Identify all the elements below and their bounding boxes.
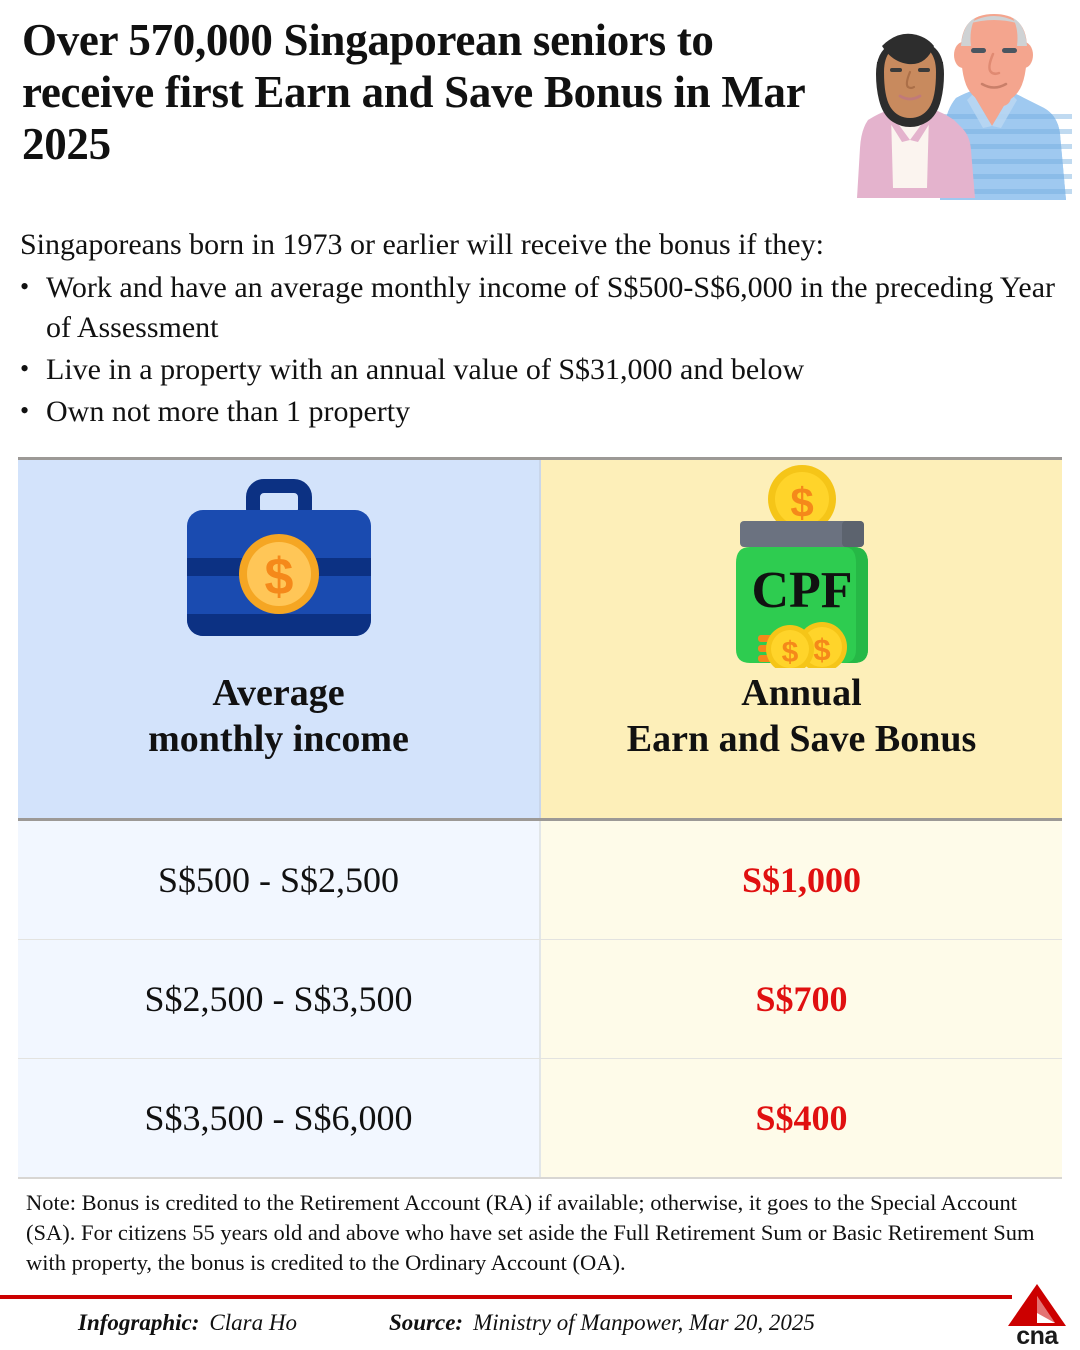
cell-income: S$500 - S$2,500	[18, 821, 541, 939]
cell-income: S$2,500 - S$3,500	[18, 940, 541, 1058]
source-label: Source:	[389, 1310, 463, 1336]
svg-text:$: $	[781, 636, 798, 668]
briefcase-money-svg: $	[179, 478, 379, 653]
header-line-2: Earn and Save Bonus	[627, 716, 977, 762]
bullet-marker-icon: •	[20, 268, 46, 306]
headline-container: Over 570,000 Singaporean seniors to rece…	[22, 14, 812, 171]
source-value: Ministry of Manpower, Mar 20, 2025	[473, 1310, 815, 1336]
table-header-label-bonus: Annual Earn and Save Bonus	[627, 670, 977, 763]
table-row: S$2,500 - S$3,500 S$700	[18, 940, 1062, 1059]
table-row: S$500 - S$2,500 S$1,000	[18, 821, 1062, 940]
jar-label: CPF	[751, 562, 852, 619]
page-title: Over 570,000 Singaporean seniors to rece…	[22, 14, 812, 171]
footnote-text: Note: Bonus is credited to the Retiremen…	[26, 1188, 1046, 1278]
svg-text:$: $	[790, 479, 813, 526]
bullet-marker-icon: •	[20, 392, 46, 430]
table-header-cell-income: $ Average monthly income	[18, 460, 541, 818]
cna-triangle-icon	[1006, 1283, 1068, 1327]
header-line-1: Annual	[627, 670, 977, 716]
cpf-savings-jar-icon: $ CPF $	[702, 460, 902, 670]
header-line-1: Average	[148, 670, 409, 716]
infographic-author: Clara Ho	[209, 1310, 297, 1336]
cell-income: S$3,500 - S$6,000	[18, 1059, 541, 1177]
list-item: • Work and have an average monthly incom…	[20, 268, 1060, 348]
cna-logo: cna	[1006, 1283, 1068, 1347]
senior-couple-illustration	[828, 2, 1072, 200]
header-line-2: monthly income	[148, 716, 409, 762]
table-header-row: $ Average monthly income $	[18, 460, 1062, 818]
cell-bonus: S$1,000	[541, 821, 1062, 939]
cell-bonus: S$400	[541, 1059, 1062, 1177]
table-body: S$500 - S$2,500 S$1,000 S$2,500 - S$3,50…	[18, 821, 1062, 1177]
table-header-cell-bonus: $ CPF $	[541, 460, 1062, 818]
cna-wordmark: cna	[1006, 1324, 1068, 1349]
cpf-jar-svg: $ CPF $	[702, 463, 902, 668]
intro-text: Singaporeans born in 1973 or earlier wil…	[20, 226, 1050, 264]
cell-bonus: S$700	[541, 940, 1062, 1058]
list-item: • Live in a property with an annual valu…	[20, 350, 1060, 390]
table-header-label-income: Average monthly income	[148, 670, 409, 763]
eligibility-bullet-list: • Work and have an average monthly incom…	[20, 268, 1060, 434]
senior-couple-svg	[828, 2, 1072, 200]
footer-divider	[0, 1295, 1012, 1299]
bonus-table: $ Average monthly income $	[18, 457, 1062, 1179]
infographic-page: Over 570,000 Singaporean seniors to rece…	[0, 0, 1080, 1350]
infographic-label: Infographic:	[78, 1310, 199, 1336]
svg-text:$: $	[813, 632, 830, 667]
list-item-label: Work and have an average monthly income …	[46, 268, 1060, 348]
briefcase-money-icon: $	[179, 460, 379, 670]
list-item-label: Own not more than 1 property	[46, 392, 1060, 432]
svg-text:$: $	[264, 548, 293, 606]
table-row: S$3,500 - S$6,000 S$400	[18, 1059, 1062, 1177]
bullet-marker-icon: •	[20, 350, 46, 388]
list-item-label: Live in a property with an annual value …	[46, 350, 1060, 390]
footer-credits: Infographic: Clara Ho Source: Ministry o…	[78, 1310, 815, 1336]
list-item: • Own not more than 1 property	[20, 392, 1060, 432]
